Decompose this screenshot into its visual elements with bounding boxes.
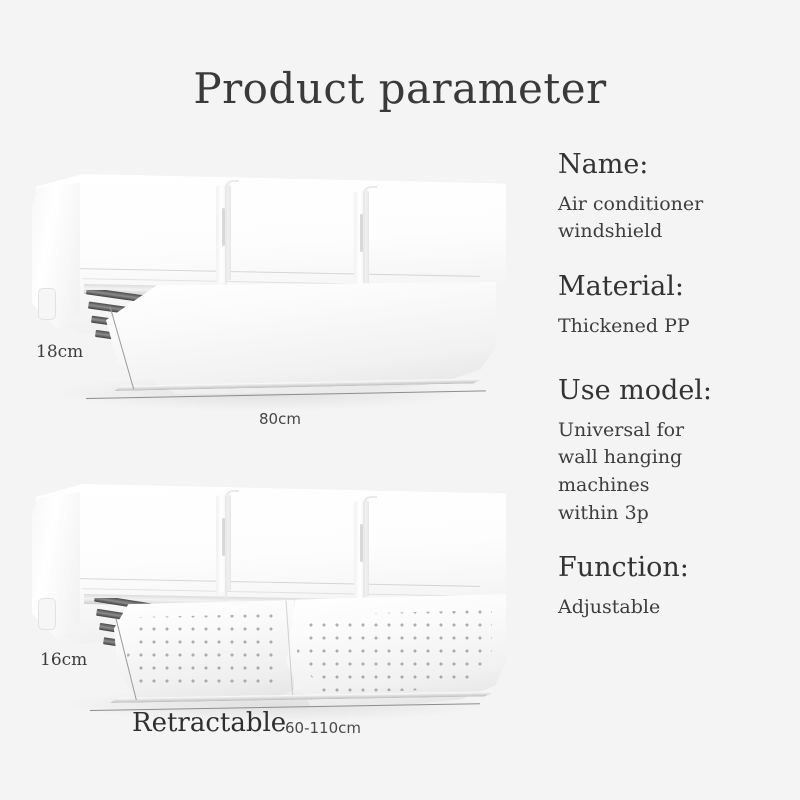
label-retractable: Retractable (132, 708, 286, 738)
dimension-label-width-top: 80cm (259, 410, 301, 428)
spec-value-material: Thickened PP (558, 313, 798, 341)
spec-item-use-model: Use model: Universal for wall hanging ma… (558, 374, 798, 527)
dimension-label-depth-top: 18cm (36, 342, 83, 362)
mount-clip-left-wire (225, 490, 239, 604)
spec-value-name: Air conditioner windshield (558, 191, 753, 246)
product-image-fixed-windshield: 18cm 80cm (10, 160, 540, 430)
spec-item-function: Function: Adjustable (558, 551, 798, 621)
dimension-label-range-bottom: 60-110cm (285, 719, 361, 737)
ac-unit-endcap-notch (38, 598, 56, 630)
infographic-page: Product parameter (0, 0, 800, 800)
mount-clip-left-wire (225, 180, 239, 294)
dimension-label-depth-bottom: 16cm (40, 650, 87, 670)
spec-value-use-model: Universal for wall hanging machines with… (558, 417, 713, 527)
spec-value-function: Adjustable (558, 594, 798, 622)
spec-item-name: Name: Air conditioner windshield (558, 148, 798, 246)
product-image-retractable-windshield: 16cm Retractable 60-110cm (10, 470, 540, 745)
mount-clip-right-wire (363, 186, 377, 300)
mount-clip-right-wire (363, 496, 377, 610)
windshield-deflector-panel (106, 282, 496, 394)
perforation-pattern-left (126, 614, 278, 692)
spec-label-material: Material: (558, 270, 798, 304)
spec-list: Name: Air conditioner windshield Materia… (558, 148, 798, 639)
spec-label-function: Function: (558, 551, 798, 585)
perforation-pattern-right (296, 610, 492, 694)
spec-label-name: Name: (558, 148, 798, 182)
page-title: Product parameter (0, 64, 800, 113)
spec-item-material: Material: Thickened PP (558, 270, 798, 340)
spec-label-use-model: Use model: (558, 374, 798, 408)
ac-unit-endcap-notch (38, 288, 56, 320)
